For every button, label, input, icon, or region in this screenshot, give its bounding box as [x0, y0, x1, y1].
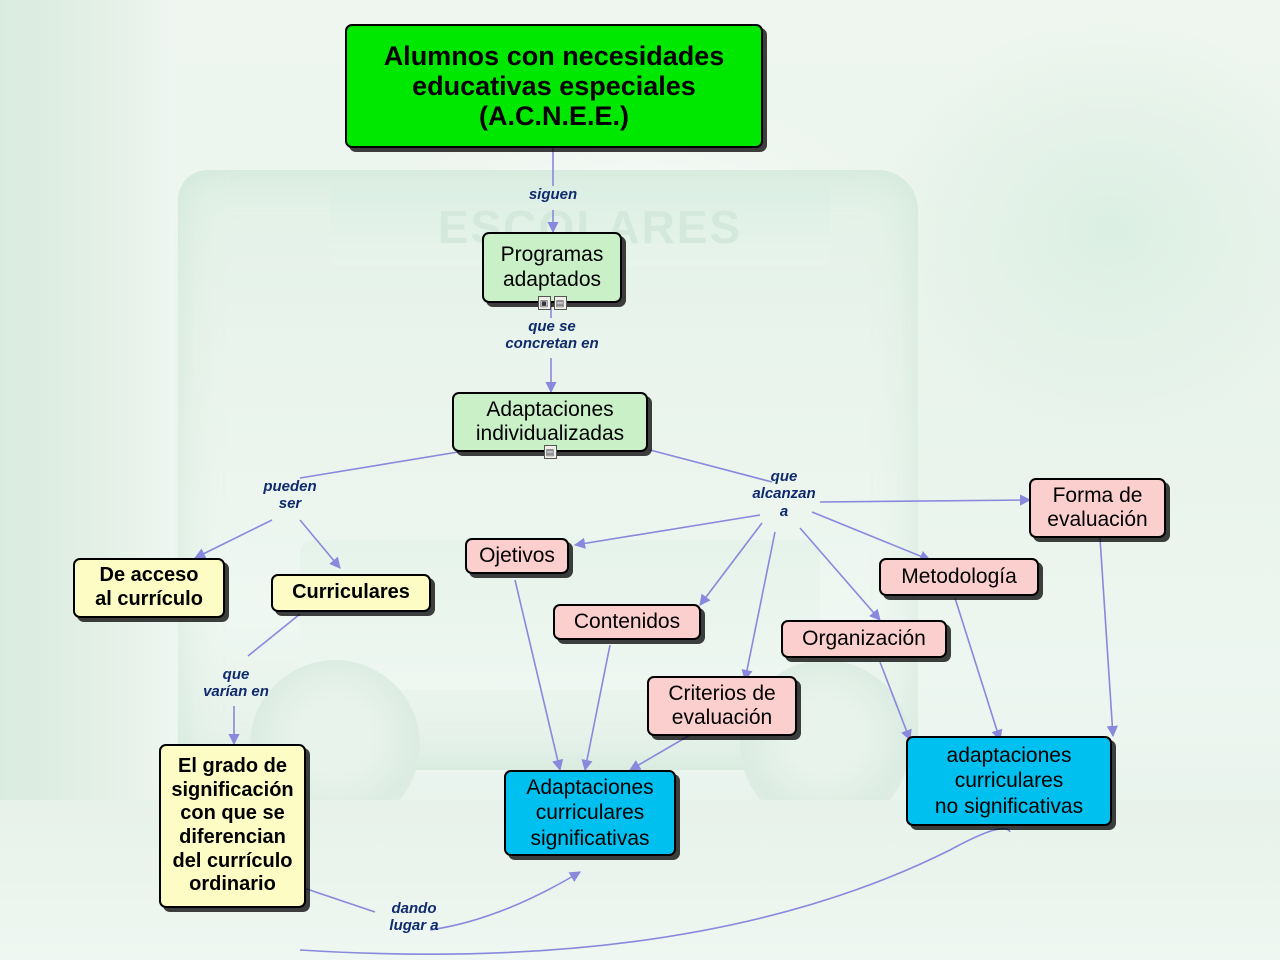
node-contenidos[interactable]: Contenidos: [553, 604, 701, 640]
link-adapt-puedenser: [300, 452, 458, 478]
link-alcanzan-contenidos: [700, 523, 762, 605]
node-programas-adaptados-label: Programas adaptados: [501, 243, 604, 291]
node-grado-de-significacion[interactable]: El grado de significación con que se dif…: [159, 744, 306, 908]
node-root[interactable]: Alumnos con necesidades educativas espec…: [345, 24, 763, 148]
link-formaevaluacion-nosignificativas: [1100, 538, 1113, 736]
note-attachment-icon[interactable]: ▤: [544, 445, 557, 459]
image-attachment-icon[interactable]: ▣: [538, 296, 551, 310]
link-label-pueden-ser: pueden ser: [245, 478, 335, 513]
link-alcanzan-ojetivos: [575, 515, 760, 545]
link-organizacion-nosignificativas: [880, 662, 910, 740]
node-organizacion[interactable]: Organización: [781, 620, 947, 658]
link-curriculares-varianen: [248, 614, 300, 656]
link-alcanzan-organizacion: [800, 528, 880, 620]
node-forma-de-evaluacion[interactable]: Forma de evaluación: [1029, 478, 1166, 538]
link-puedenser-curriculares: [300, 520, 340, 568]
node-curriculares[interactable]: Curriculares: [271, 574, 431, 612]
link-label-que-varian-en: que varían en: [188, 666, 284, 701]
link-label-dando-lugar-a: dando lugar a: [374, 900, 454, 935]
node-criterios-de-evaluacion[interactable]: Criterios de evaluación: [647, 676, 797, 736]
node-adaptaciones-individualizadas[interactable]: Adaptaciones individualizadas ▤: [452, 392, 648, 452]
node-ojetivos[interactable]: Ojetivos: [465, 538, 569, 574]
link-dandolugar-nosignificativas-b: [950, 829, 1010, 850]
node-adaptaciones-curriculares-significativas[interactable]: Adaptaciones curriculares significativas: [504, 770, 676, 856]
link-criterios-significativas: [630, 735, 690, 770]
node-metodologia[interactable]: Metodología: [879, 558, 1039, 596]
node-programas-adaptados-badges[interactable]: ▣ ▤: [538, 296, 567, 310]
concept-map-canvas: ESCOLARES: [0, 0, 1280, 960]
link-label-siguen: siguen: [503, 186, 603, 203]
link-label-que-se-concretan-en: que se concretan en: [486, 318, 618, 353]
link-alcanzan-formaevaluacion: [820, 500, 1030, 502]
note-attachment-icon[interactable]: ▤: [554, 296, 567, 310]
link-label-que-alcanzan-a: que alcanzan a: [742, 468, 826, 520]
node-adaptaciones-individualizadas-badges[interactable]: ▤: [544, 445, 557, 459]
link-contenidos-significativas: [585, 645, 610, 770]
node-de-acceso-al-curriculo[interactable]: De acceso al currículo: [73, 558, 225, 618]
node-adaptaciones-individualizadas-label: Adaptaciones individualizadas: [476, 398, 624, 446]
link-puedenser-acceso: [195, 520, 272, 558]
node-adaptaciones-curriculares-no-significativas[interactable]: adaptaciones curriculares no significati…: [906, 736, 1112, 826]
link-alcanzan-metodologia: [812, 512, 930, 560]
link-metodologia-nosignificativas: [955, 598, 1000, 740]
link-alcanzan-criterios: [745, 532, 775, 680]
node-programas-adaptados[interactable]: Programas adaptados ▣ ▤: [482, 232, 622, 303]
